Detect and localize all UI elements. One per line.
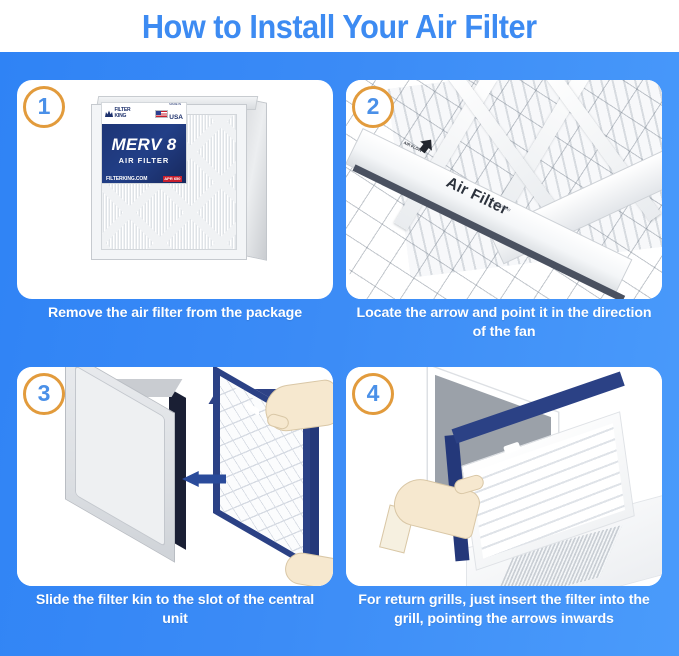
- slide-filter-illustration: [17, 367, 333, 586]
- page-title: How to Install Your Air Filter: [142, 10, 537, 43]
- step-image-panel-4: [346, 367, 662, 586]
- step-image-panel-1: FILTER KING MADE IN USA: [17, 80, 333, 299]
- filter-king-logo: FILTER KING: [105, 108, 130, 118]
- air-filter-package-illustration: FILTER KING MADE IN USA: [17, 80, 333, 299]
- usa-flag-icon: [155, 110, 168, 118]
- step-caption-3: Slide the filter kin to the slot of the …: [17, 591, 333, 628]
- apr-rating-badge: APR 650: [163, 176, 182, 182]
- brand-line-2: KING: [115, 113, 127, 119]
- label-body: MERV 8 AIR FILTER FILTERKING.COM APR 650: [102, 124, 186, 184]
- step-number-1: 1: [38, 95, 51, 118]
- made-in-usa-badge: MADE IN USA: [155, 103, 183, 124]
- air-filter-product: FILTER KING MADE IN USA: [91, 96, 269, 264]
- step-badge-4: 4: [352, 373, 394, 415]
- step-image-panel-3: [17, 367, 333, 586]
- filter-product-label: FILTER KING MADE IN USA: [101, 102, 187, 184]
- step-badge-2: 2: [352, 86, 394, 128]
- website-text: FILTERKING.COM: [106, 176, 147, 182]
- step-card-3: 3 Slide the filter kin to the slot of th…: [17, 367, 333, 642]
- crown-icon: [105, 110, 113, 117]
- step-number-2: 2: [367, 95, 380, 118]
- header-band: How to Install Your Air Filter: [0, 0, 679, 52]
- made-in-usa-text: MADE IN USA: [169, 103, 183, 124]
- brand-name-text: FILTER KING: [115, 108, 131, 118]
- step-image-panel-2: AIR FLOW Air Filter AIRFLOW: [346, 80, 662, 299]
- label-subtitle-text: AIR FILTER: [102, 156, 186, 165]
- step-caption-4: For return grills, just insert the filte…: [346, 591, 662, 628]
- step-card-2: AIR FLOW Air Filter AIRFLOW 2 Locate the…: [346, 80, 662, 355]
- merv-rating-text: MERV 8: [102, 136, 186, 153]
- filter-corner-illustration: AIR FLOW Air Filter AIRFLOW: [346, 80, 662, 299]
- return-grill-illustration: [346, 367, 662, 586]
- hand-lower: [283, 550, 333, 586]
- step-number-3: 3: [38, 382, 51, 405]
- steps-canvas: FILTER KING MADE IN USA: [0, 52, 679, 656]
- step-caption-2: Locate the arrow and point it in the dir…: [346, 304, 662, 341]
- country-text: USA: [169, 114, 183, 121]
- made-in-text: MADE IN: [169, 103, 183, 106]
- label-footer-row: FILTERKING.COM APR 650: [102, 176, 186, 183]
- step-badge-1: 1: [23, 86, 65, 128]
- step-caption-1: Remove the air filter from the package: [17, 304, 333, 323]
- label-header-row: FILTER KING MADE IN USA: [102, 103, 186, 124]
- step-card-1: FILTER KING MADE IN USA: [17, 80, 333, 355]
- steps-grid: FILTER KING MADE IN USA: [17, 80, 662, 642]
- step-card-4: 4 For return grills, just insert the fil…: [346, 367, 662, 642]
- step-number-4: 4: [367, 382, 380, 405]
- step-badge-3: 3: [23, 373, 65, 415]
